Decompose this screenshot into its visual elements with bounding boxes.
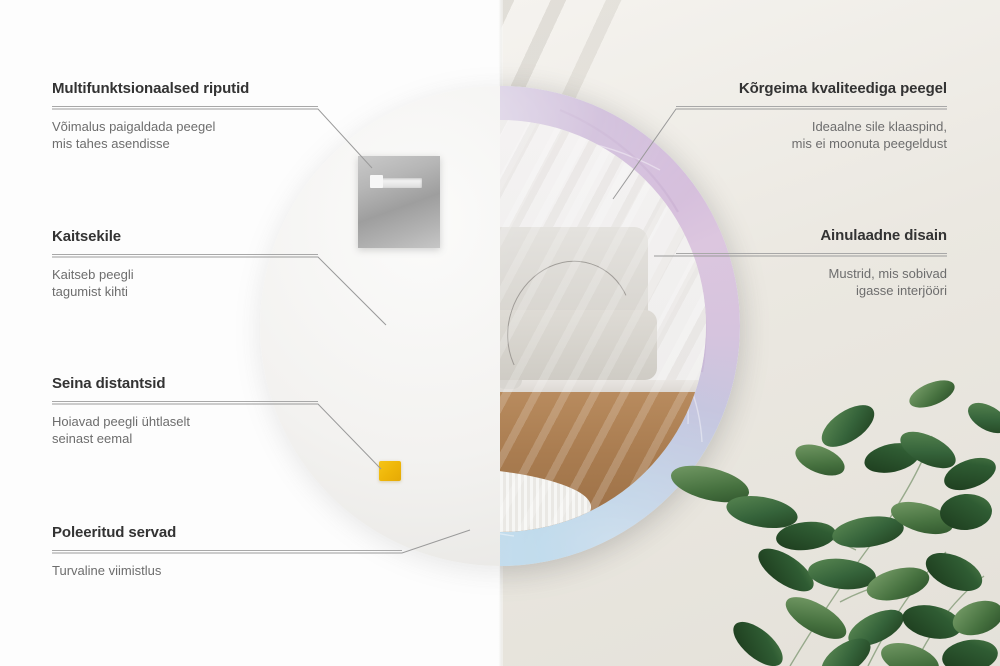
mirror-product-photo	[500, 86, 740, 566]
callout-description: Võimalus paigaldada peegel mis tahes ase…	[52, 118, 318, 152]
callout-description: Hoiavad peegli ühtlaselt seinast eemal	[52, 413, 318, 447]
callout-title: Ainulaadne disain	[676, 227, 947, 244]
callout-ainulaadne-disain: Ainulaadne disain Mustrid, mis sobivad i…	[676, 227, 947, 299]
callout-rule	[52, 401, 318, 402]
callout-description: Turvaline viimistlus	[52, 562, 402, 579]
callout-korgeima-kvaliteediga-peegel: Kõrgeima kvaliteediga peegel Ideaalne si…	[676, 80, 947, 152]
hanger-slot-notch	[370, 175, 383, 188]
callout-title: Poleeritud servad	[52, 524, 402, 541]
callout-description: Ideaalne sile klaaspind, mis ei moonuta …	[676, 118, 947, 152]
mirror-glass-surface	[500, 120, 706, 532]
callout-rule	[52, 254, 318, 255]
callout-rule	[52, 550, 402, 551]
hanger-keyhole-slot	[370, 178, 422, 188]
callout-title: Seina distantsid	[52, 375, 318, 392]
callout-poleeritud-servad: Poleeritud servad Turvaline viimistlus	[52, 524, 402, 579]
callout-description: Kaitseb peegli tagumist kihti	[52, 266, 318, 300]
wall-spacer-chip	[379, 461, 401, 481]
callout-title: Kõrgeima kvaliteediga peegel	[676, 80, 947, 97]
callout-rule	[676, 253, 947, 254]
callout-multifunktsionaalsed-riputid: Multifunktsionaalsed riputid Võimalus pa…	[52, 80, 318, 152]
hanger-bracket-plate	[358, 156, 440, 248]
callout-seina-distantsid: Seina distantsid Hoiavad peegli ühtlasel…	[52, 375, 318, 447]
product-feature-infographic: Multifunktsionaalsed riputid Võimalus pa…	[0, 0, 1000, 666]
callout-title: Kaitsekile	[52, 228, 318, 245]
callout-kaitsekile: Kaitsekile Kaitseb peegli tagumist kihti	[52, 228, 318, 300]
callout-title: Multifunktsionaalsed riputid	[52, 80, 318, 97]
callout-rule	[676, 106, 947, 107]
callout-rule	[52, 106, 318, 107]
callout-description: Mustrid, mis sobivad igasse interjööri	[676, 265, 947, 299]
